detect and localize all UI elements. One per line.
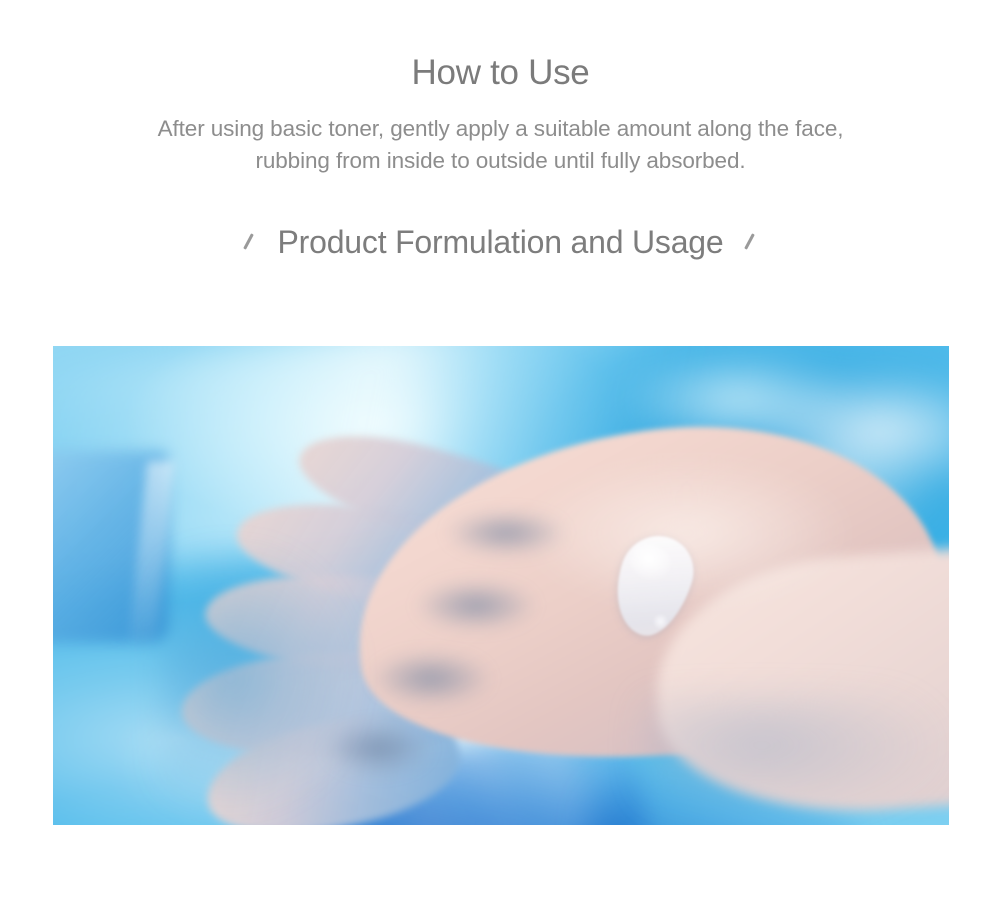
intro-description-line-2: rubbing from inside to outside until ful… bbox=[36, 145, 966, 177]
knuckle-crease bbox=[371, 652, 491, 705]
intro-block: How to Use After using basic toner, gent… bbox=[0, 0, 1001, 177]
hand-figure bbox=[250, 423, 949, 825]
wrist-shadow bbox=[641, 696, 942, 819]
diagonal-tick-icon bbox=[238, 225, 264, 259]
page-root: How to Use After using basic toner, gent… bbox=[0, 0, 1001, 898]
diagonal-tick-icon bbox=[738, 225, 764, 259]
fingertip-blue-tint bbox=[160, 546, 356, 810]
section-heading: Product Formulation and Usage bbox=[0, 223, 1001, 261]
page-title: How to Use bbox=[0, 52, 1001, 94]
intro-description: After using basic toner, gently apply a … bbox=[36, 113, 966, 177]
knuckle-crease bbox=[446, 511, 566, 555]
cream-droplet-tail bbox=[653, 614, 667, 628]
product-photo-canvas bbox=[53, 346, 949, 825]
section-heading-label: Product Formulation and Usage bbox=[264, 223, 738, 261]
knuckle-crease bbox=[416, 581, 536, 629]
intro-description-line-1: After using basic toner, gently apply a … bbox=[36, 113, 966, 145]
product-photo bbox=[53, 346, 949, 825]
